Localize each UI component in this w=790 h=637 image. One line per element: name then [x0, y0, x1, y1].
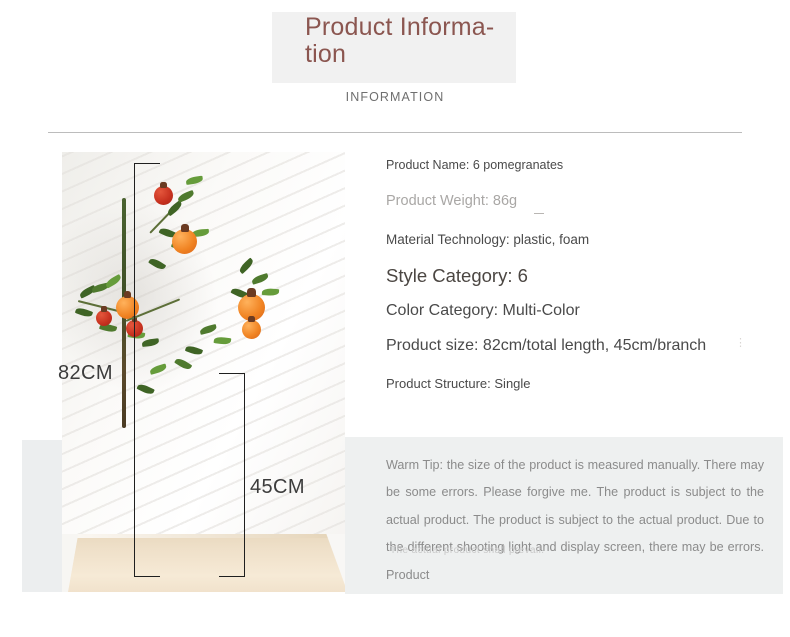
measure-label-branch-length: 45CM	[250, 476, 305, 499]
weight-underline-mark	[534, 213, 544, 214]
photo-table-surface	[62, 534, 345, 592]
spec-product-structure: Product Structure: Single	[386, 376, 531, 391]
spec-product-size: Product size: 82cm/total length, 45cm/br…	[386, 337, 706, 355]
spec-product-weight: Product Weight: 86g	[386, 193, 517, 209]
page-title: Product Informa- tion	[305, 14, 520, 67]
spec-style-category: Style Category: 6	[386, 265, 528, 287]
bracket-tick-top	[219, 373, 245, 374]
photo-table-right-edge	[305, 534, 345, 592]
pomegranate-fruit	[172, 229, 197, 254]
warm-tip-text: Warm Tip: the size of the product is mea…	[386, 452, 764, 589]
bracket-line-vertical	[134, 163, 135, 577]
page-subtitle: INFORMATION	[0, 90, 790, 104]
pomegranate-fruit	[154, 186, 173, 205]
pomegranate-fruit	[96, 310, 112, 326]
header-divider	[48, 132, 742, 133]
warm-tip-top-gap	[345, 432, 783, 437]
spec-material-technology: Material Technology: plastic, foam	[386, 232, 589, 247]
size-trailing-mark: ⋮	[735, 338, 741, 349]
bracket-tick-bottom	[134, 576, 160, 577]
pomegranate-fruit	[242, 320, 261, 339]
bracket-tick-top	[134, 163, 160, 164]
warm-tip-footnote: The actual product shall prevail.	[390, 543, 590, 559]
product-information-page: Product Informa- tion INFORMATION	[0, 0, 790, 637]
photo-table-left-edge	[62, 534, 94, 592]
spec-product-name: Product Name: 6 pomegranates	[386, 158, 563, 172]
bracket-tick-bottom	[219, 576, 245, 577]
background-accent-band	[22, 440, 66, 592]
bracket-line-vertical	[244, 373, 245, 577]
measure-label-total-length: 82CM	[58, 362, 113, 385]
spec-color-category: Color Category: Multi-Color	[386, 302, 580, 320]
